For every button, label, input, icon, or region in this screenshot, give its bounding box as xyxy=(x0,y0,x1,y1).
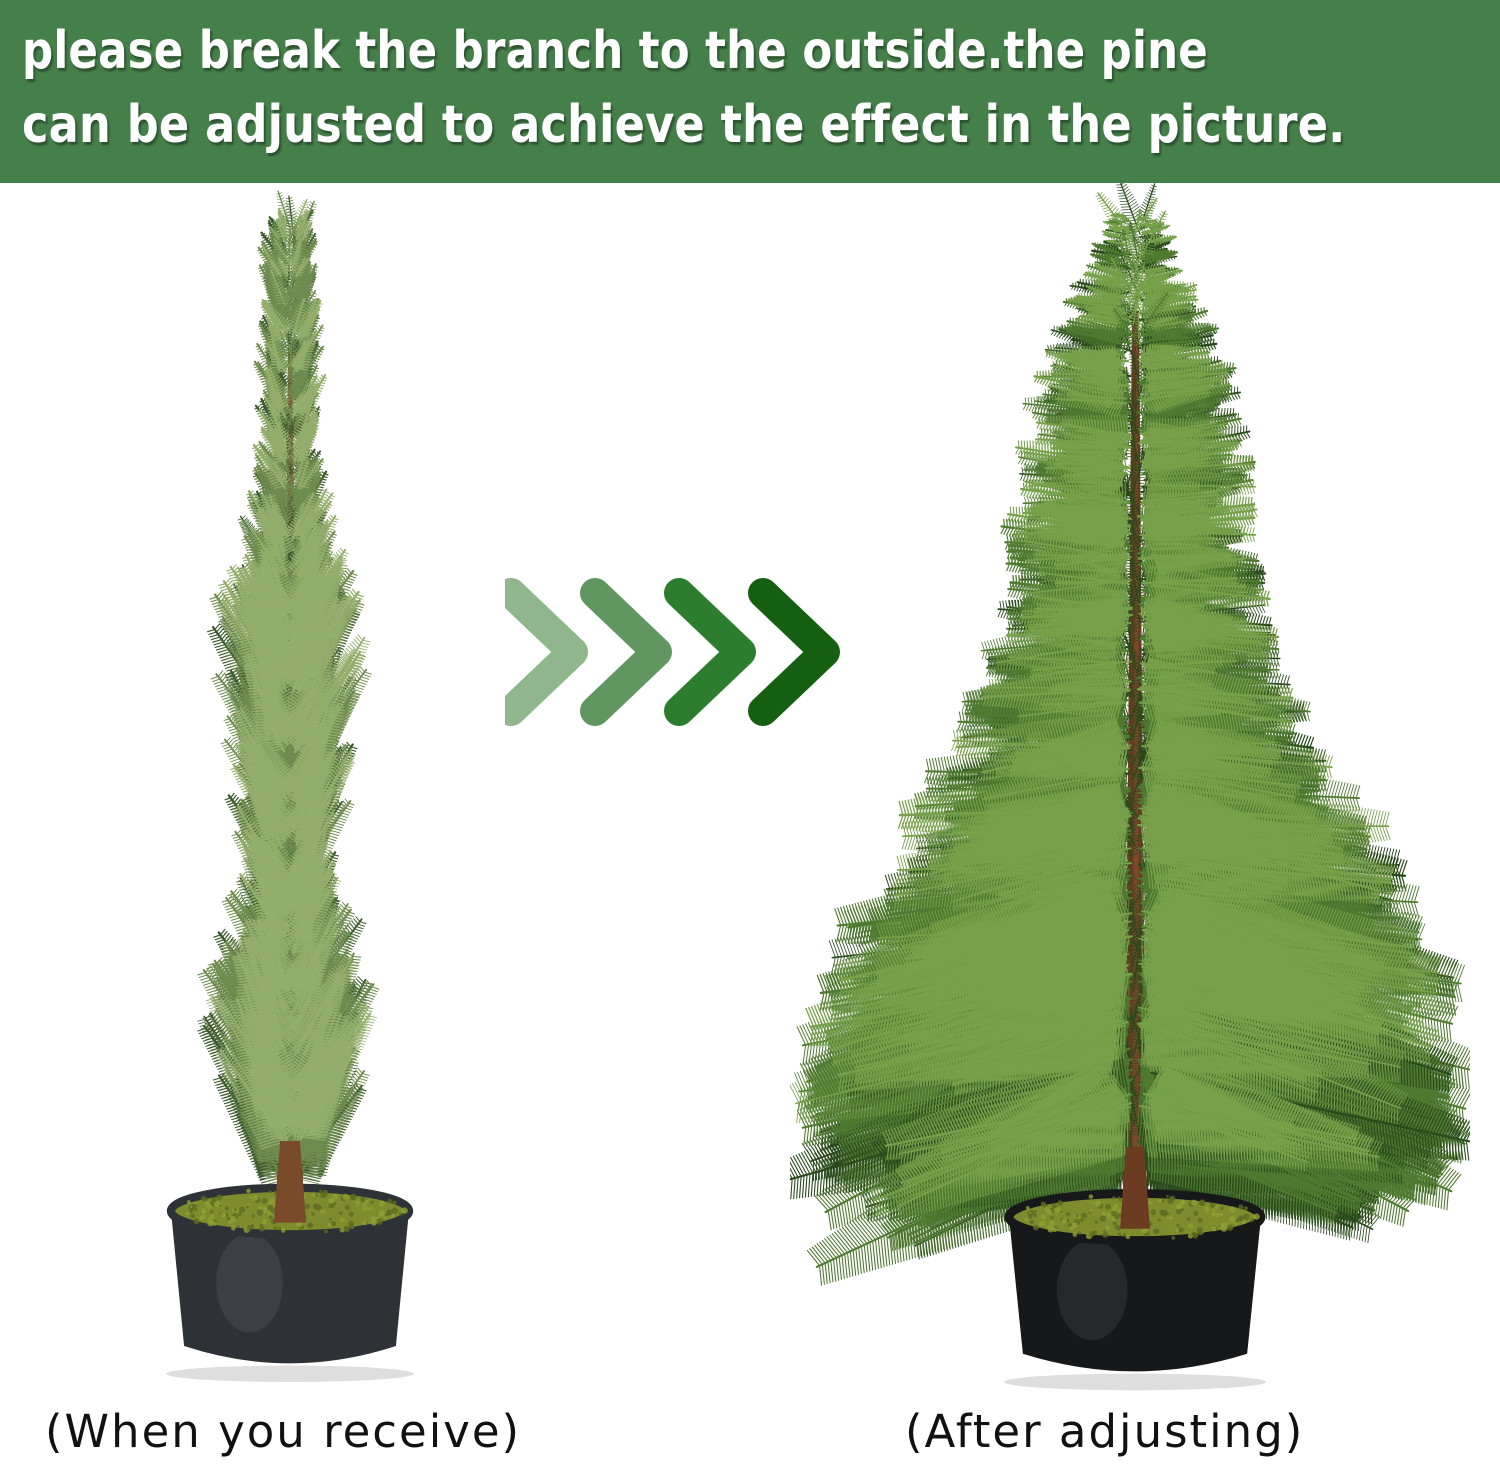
banner-line-1: please break the branch to the outside.t… xyxy=(22,14,1380,88)
chevron-2-icon xyxy=(595,593,657,711)
artificial-pine-tree-unadjusted xyxy=(60,183,580,1403)
after-tree-panel xyxy=(790,183,1470,1466)
instruction-banner: please break the branch to the outside.t… xyxy=(0,0,1500,183)
before-tree-panel xyxy=(60,183,580,1466)
caption-before: (When you receive) xyxy=(45,1405,521,1458)
chevron-arrow-group xyxy=(505,575,865,735)
chevron-3-icon xyxy=(679,593,741,711)
comparison-stage: (When you receive) (After adjusting) xyxy=(0,183,1500,1466)
caption-after: (After adjusting) xyxy=(905,1405,1304,1458)
banner-line-2: can be adjusted to achieve the effect in… xyxy=(22,88,1416,162)
artificial-pine-tree-adjusted xyxy=(790,183,1470,1403)
chevron-1-icon xyxy=(511,593,573,711)
chevron-4-icon xyxy=(763,593,825,711)
